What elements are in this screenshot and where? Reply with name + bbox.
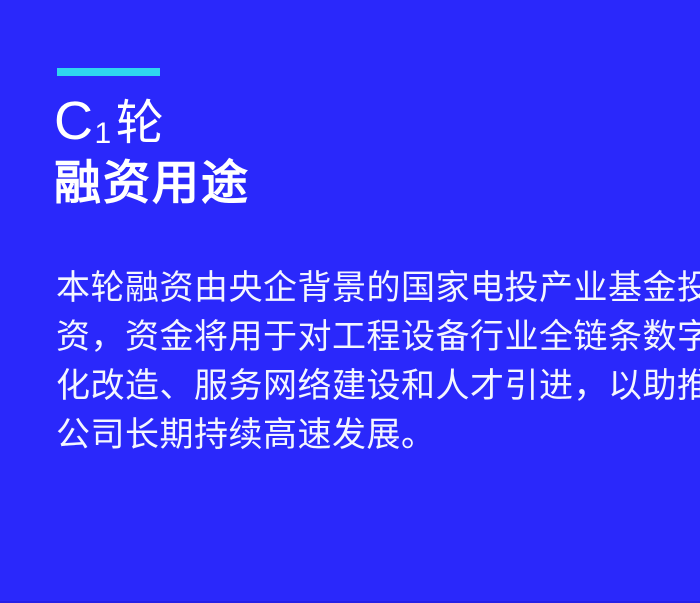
body-line: 资，资金将用于对工程设备行业全链条数字 bbox=[56, 313, 648, 362]
eyebrow-suffix: 轮 bbox=[116, 95, 165, 153]
body-line: 公司长期持续高速发展。 bbox=[56, 411, 648, 460]
body-line: 本轮融资由央企背景的国家电投产业基金投 bbox=[56, 264, 648, 313]
body-paragraph: 本轮融资由央企背景的国家电投产业基金投 资，资金将用于对工程设备行业全链条数字 … bbox=[56, 264, 648, 460]
eyebrow-title: C1轮 bbox=[54, 92, 164, 159]
page-title: 融资用途 bbox=[54, 155, 250, 211]
accent-bar bbox=[57, 68, 160, 76]
slide-root: C1轮 融资用途 本轮融资由央企背景的国家电投产业基金投 资，资金将用于对工程设… bbox=[0, 0, 700, 603]
body-line: 化改造、服务网络建设和人才引进，以助推 bbox=[56, 362, 648, 411]
eyebrow-letter: C bbox=[54, 92, 94, 150]
